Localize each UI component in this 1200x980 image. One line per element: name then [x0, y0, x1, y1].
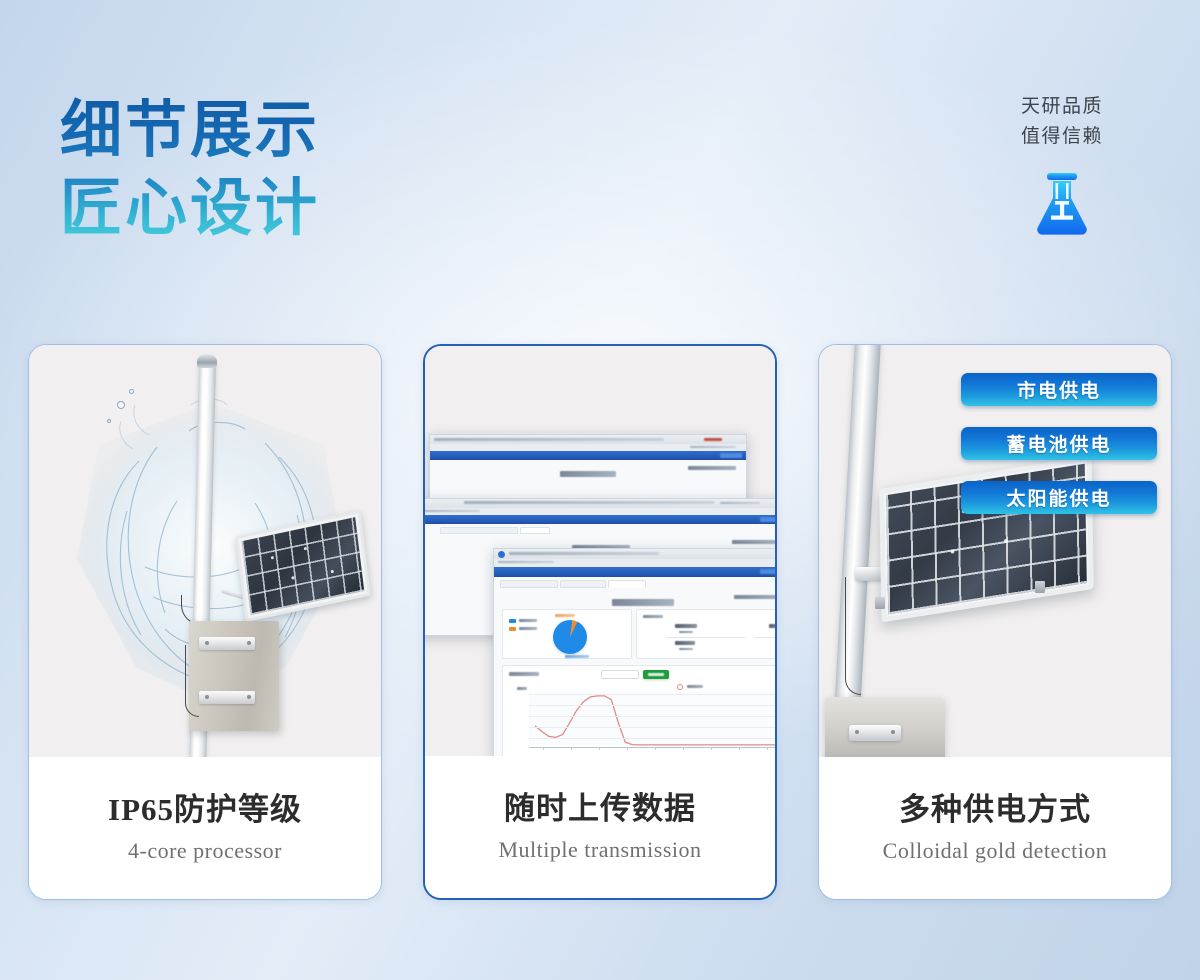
card-caption-ip65: IP65防护等级 4-core processor [29, 757, 381, 899]
solar-cells [242, 517, 365, 615]
app-header-bar [430, 451, 746, 460]
browser-window-front[interactable] [493, 548, 775, 760]
panel-mount-foot [1035, 581, 1045, 593]
stats-card [636, 609, 775, 659]
pie-chart [553, 620, 587, 654]
date-filter-input[interactable] [601, 670, 639, 679]
panel-mount-foot [875, 597, 885, 609]
card-subtitle: Colloidal gold detection [819, 838, 1171, 864]
pole-cap [197, 354, 217, 368]
clamp-screw [891, 730, 895, 734]
water-droplet [107, 419, 111, 423]
bracket-screw [205, 641, 209, 645]
flask-icon [972, 170, 1152, 238]
pie-chart-card [502, 609, 632, 659]
page-header: 细节展示匠心设计 天研品质 值得信赖 [0, 0, 1200, 330]
line-chart-plot [529, 692, 775, 746]
brand-slogan-line2: 值得信赖 [972, 122, 1152, 152]
power-badge-battery[interactable]: 蓄电池供电 [961, 427, 1157, 460]
card-caption-power: 多种供电方式 Colloidal gold detection [819, 757, 1171, 899]
browser-chrome [425, 499, 775, 508]
dashboard-tab-active[interactable] [608, 580, 646, 588]
feature-cards-row: IP65防护等级 4-core processor [0, 344, 1200, 900]
legend-marker-realtime [677, 684, 683, 690]
feature-card-upload[interactable]: 随时上传数据 Multiple transmission [423, 344, 777, 900]
water-droplet [129, 389, 134, 394]
browser-tabbar [430, 444, 746, 451]
enclosure-cable [185, 645, 199, 717]
card-title: 多种供电方式 [819, 790, 1171, 830]
card-subtitle: 4-core processor [29, 838, 381, 864]
browser-toolbar [494, 559, 775, 567]
query-button[interactable] [643, 670, 669, 679]
card-subtitle: Multiple transmission [425, 837, 775, 863]
bracket-screw [247, 695, 251, 699]
power-badge-solar[interactable]: 太阳能供电 [961, 481, 1157, 514]
brand-slogan-line1: 天研品质 [972, 92, 1152, 122]
page-title-line1: 细节展示 [60, 97, 320, 165]
card-media-ip65 [29, 345, 381, 759]
legend-swatch-online [509, 619, 516, 623]
browser-tabbar [425, 508, 775, 515]
clamp-screw [855, 730, 859, 734]
brand-block: 天研品质 值得信赖 [972, 92, 1152, 238]
card-title: 随时上传数据 [425, 789, 775, 829]
water-droplet [117, 401, 125, 409]
bracket-screw [247, 641, 251, 645]
browser-chrome [430, 435, 746, 444]
dashboard-tab[interactable] [560, 580, 606, 588]
dashboard-body [494, 577, 775, 760]
card-caption-upload: 随时上传数据 Multiple transmission [425, 756, 775, 898]
page-title-line2: 匠心设计 [60, 175, 320, 243]
power-cable [845, 577, 861, 695]
app-header-bar [494, 567, 775, 577]
app-header-bar [425, 515, 775, 524]
card-media-power: 市电供电 蓄电池供电 太阳能供电 [819, 345, 1171, 759]
power-badge-list: 市电供电 蓄电池供电 太阳能供电 [961, 373, 1157, 535]
power-badge-mains[interactable]: 市电供电 [961, 373, 1157, 406]
card-title: IP65防护等级 [29, 790, 381, 830]
dashboard-tab[interactable] [500, 580, 558, 588]
card-media-upload [425, 346, 775, 760]
line-chart-card [502, 665, 775, 757]
feature-card-power[interactable]: 市电供电 蓄电池供电 太阳能供电 多种供电方式 Colloidal gold d… [818, 344, 1172, 900]
page-title: 细节展示匠心设计 [60, 92, 320, 248]
browser-chrome [494, 549, 775, 559]
feature-card-ip65[interactable]: IP65防护等级 4-core processor [28, 344, 382, 900]
legend-swatch-offline [509, 627, 516, 631]
bracket-screw [205, 695, 209, 699]
